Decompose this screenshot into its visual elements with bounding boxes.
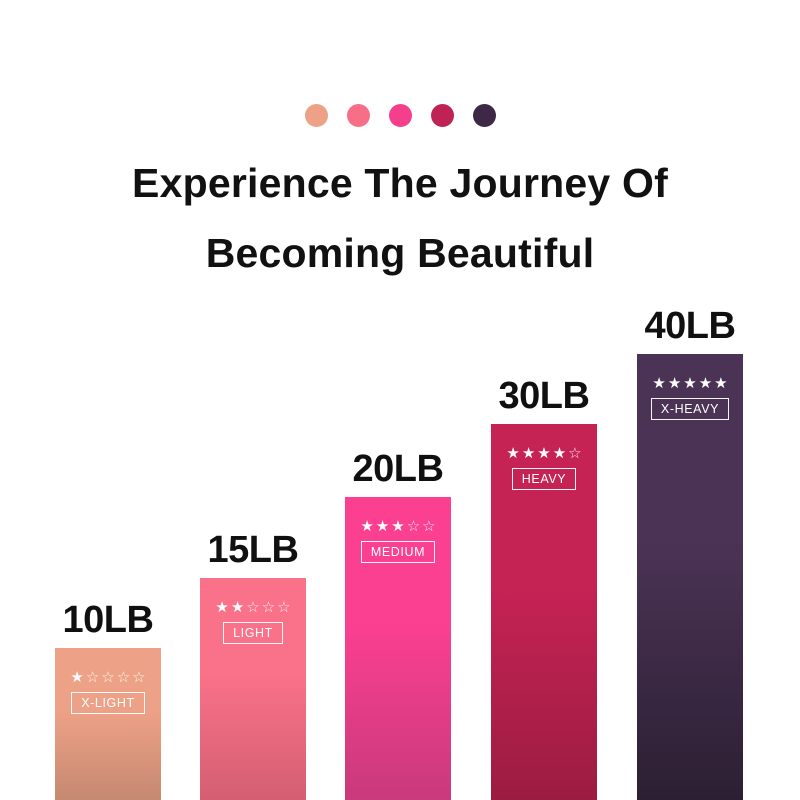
bar-x-heavy-weight-label: 40LB bbox=[645, 305, 736, 348]
bar-heavy-content: ★★★★☆HEAVY bbox=[491, 446, 597, 490]
star-filled-icon: ★ bbox=[360, 519, 373, 534]
star-filled-icon: ★ bbox=[70, 670, 83, 685]
bar-heavy-tier-badge: HEAVY bbox=[512, 468, 576, 490]
star-filled-icon: ★ bbox=[668, 376, 681, 391]
star-filled-icon: ★ bbox=[699, 376, 712, 391]
bar-light-body: ★★☆☆☆LIGHT bbox=[200, 578, 306, 800]
bar-light-star-rating: ★★☆☆☆ bbox=[215, 600, 290, 615]
star-empty-icon: ☆ bbox=[277, 600, 290, 615]
bar-x-light-body: ★☆☆☆☆X-LIGHT bbox=[55, 648, 161, 800]
star-filled-icon: ★ bbox=[376, 519, 389, 534]
star-empty-icon: ☆ bbox=[246, 600, 259, 615]
bar-heavy[interactable]: 30LB★★★★☆HEAVY bbox=[491, 424, 597, 800]
bar-light-weight-label: 15LB bbox=[208, 529, 299, 572]
star-empty-icon: ☆ bbox=[132, 670, 145, 685]
bar-medium-star-rating: ★★★☆☆ bbox=[360, 519, 435, 534]
star-empty-icon: ☆ bbox=[262, 600, 275, 615]
star-empty-icon: ☆ bbox=[407, 519, 420, 534]
bar-x-light-weight-label: 10LB bbox=[63, 599, 154, 642]
star-filled-icon: ★ bbox=[522, 446, 535, 461]
bar-light-tier-badge: LIGHT bbox=[223, 622, 283, 644]
bar-medium[interactable]: 20LB★★★☆☆MEDIUM bbox=[345, 497, 451, 800]
star-filled-icon: ★ bbox=[506, 446, 519, 461]
bar-x-light-content: ★☆☆☆☆X-LIGHT bbox=[55, 670, 161, 714]
bar-x-heavy-star-rating: ★★★★★ bbox=[652, 376, 727, 391]
bar-heavy-star-rating: ★★★★☆ bbox=[506, 446, 581, 461]
bar-x-light[interactable]: 10LB★☆☆☆☆X-LIGHT bbox=[55, 648, 161, 800]
bar-x-heavy-content: ★★★★★X-HEAVY bbox=[637, 376, 743, 420]
star-empty-icon: ☆ bbox=[101, 670, 114, 685]
star-empty-icon: ☆ bbox=[86, 670, 99, 685]
bar-medium-body: ★★★☆☆MEDIUM bbox=[345, 497, 451, 800]
infographic-canvas: Experience The Journey Of Becoming Beaut… bbox=[0, 0, 800, 800]
bar-x-heavy-tier-badge: X-HEAVY bbox=[651, 398, 729, 420]
star-filled-icon: ★ bbox=[215, 600, 228, 615]
bar-x-light-star-rating: ★☆☆☆☆ bbox=[70, 670, 145, 685]
star-filled-icon: ★ bbox=[714, 376, 727, 391]
star-empty-icon: ☆ bbox=[117, 670, 130, 685]
resistance-level-bar-chart: 10LB★☆☆☆☆X-LIGHT15LB★★☆☆☆LIGHT20LB★★★☆☆M… bbox=[0, 0, 800, 800]
bar-heavy-body: ★★★★☆HEAVY bbox=[491, 424, 597, 800]
bar-medium-tier-badge: MEDIUM bbox=[361, 541, 435, 563]
bar-heavy-weight-label: 30LB bbox=[499, 375, 590, 418]
star-filled-icon: ★ bbox=[391, 519, 404, 534]
star-filled-icon: ★ bbox=[652, 376, 665, 391]
bar-light-content: ★★☆☆☆LIGHT bbox=[200, 600, 306, 644]
star-filled-icon: ★ bbox=[683, 376, 696, 391]
star-empty-icon: ☆ bbox=[422, 519, 435, 534]
bar-medium-weight-label: 20LB bbox=[353, 448, 444, 491]
bar-x-light-tier-badge: X-LIGHT bbox=[71, 692, 145, 714]
bar-x-heavy-body: ★★★★★X-HEAVY bbox=[637, 354, 743, 800]
bar-x-heavy[interactable]: 40LB★★★★★X-HEAVY bbox=[637, 354, 743, 800]
bar-medium-content: ★★★☆☆MEDIUM bbox=[345, 519, 451, 563]
star-empty-icon: ☆ bbox=[568, 446, 581, 461]
star-filled-icon: ★ bbox=[553, 446, 566, 461]
star-filled-icon: ★ bbox=[537, 446, 550, 461]
bar-light[interactable]: 15LB★★☆☆☆LIGHT bbox=[200, 578, 306, 800]
star-filled-icon: ★ bbox=[231, 600, 244, 615]
